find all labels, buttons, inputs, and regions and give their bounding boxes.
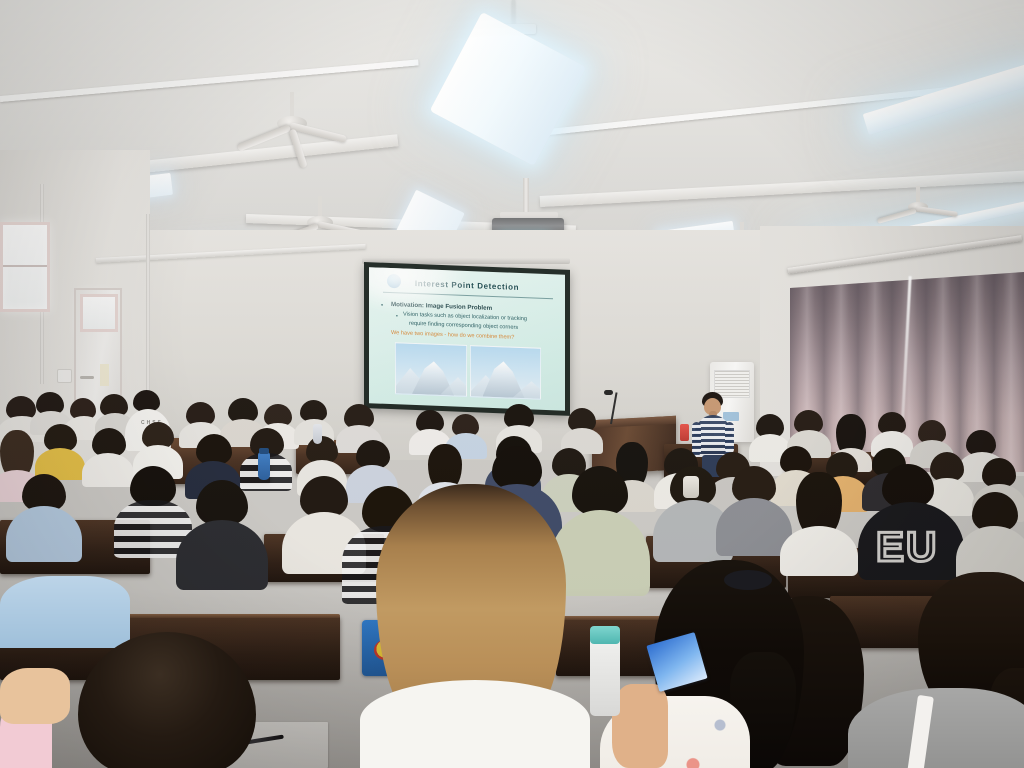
wall-conduit bbox=[146, 214, 150, 394]
slide-title: Interest Point Detection bbox=[369, 277, 565, 294]
microphone bbox=[604, 390, 613, 395]
ceiling-fan bbox=[876, 186, 960, 230]
bottle-cap bbox=[590, 626, 620, 644]
wall-window bbox=[0, 222, 50, 312]
bullet-marker: ▪ bbox=[396, 313, 398, 319]
desk-item-red bbox=[680, 424, 689, 441]
slide-bullet-3: We have two images - how do we combine t… bbox=[391, 330, 514, 341]
slide-image-left bbox=[395, 342, 467, 397]
light-switch[interactable] bbox=[57, 369, 72, 383]
bullet-marker: ▪ bbox=[381, 303, 383, 309]
slide-title-rule bbox=[383, 292, 553, 300]
bottle-cap bbox=[259, 448, 269, 454]
projection-screen-frame: Interest Point Detection ▪ Motivation: I… bbox=[364, 262, 570, 416]
lecture-hall-photo: Interest Point Detection ▪ Motivation: I… bbox=[0, 0, 1024, 768]
ceiling-fan bbox=[234, 92, 350, 156]
teal-water-bottle bbox=[590, 632, 620, 716]
water-bottle bbox=[313, 424, 322, 444]
projection-screen: Interest Point Detection ▪ Motivation: I… bbox=[369, 267, 565, 411]
slide-bullet-1: Motivation: Image Fusion Problem bbox=[391, 301, 492, 312]
slide-image-pair bbox=[395, 342, 541, 400]
desk-item bbox=[683, 476, 699, 498]
audience-member-blue-shirt bbox=[0, 576, 130, 648]
slide-image-right bbox=[470, 345, 542, 400]
student-hand bbox=[0, 668, 70, 724]
water-bottle bbox=[258, 452, 270, 480]
slide-bullet-2b: require finding corresponding object cor… bbox=[409, 321, 518, 331]
